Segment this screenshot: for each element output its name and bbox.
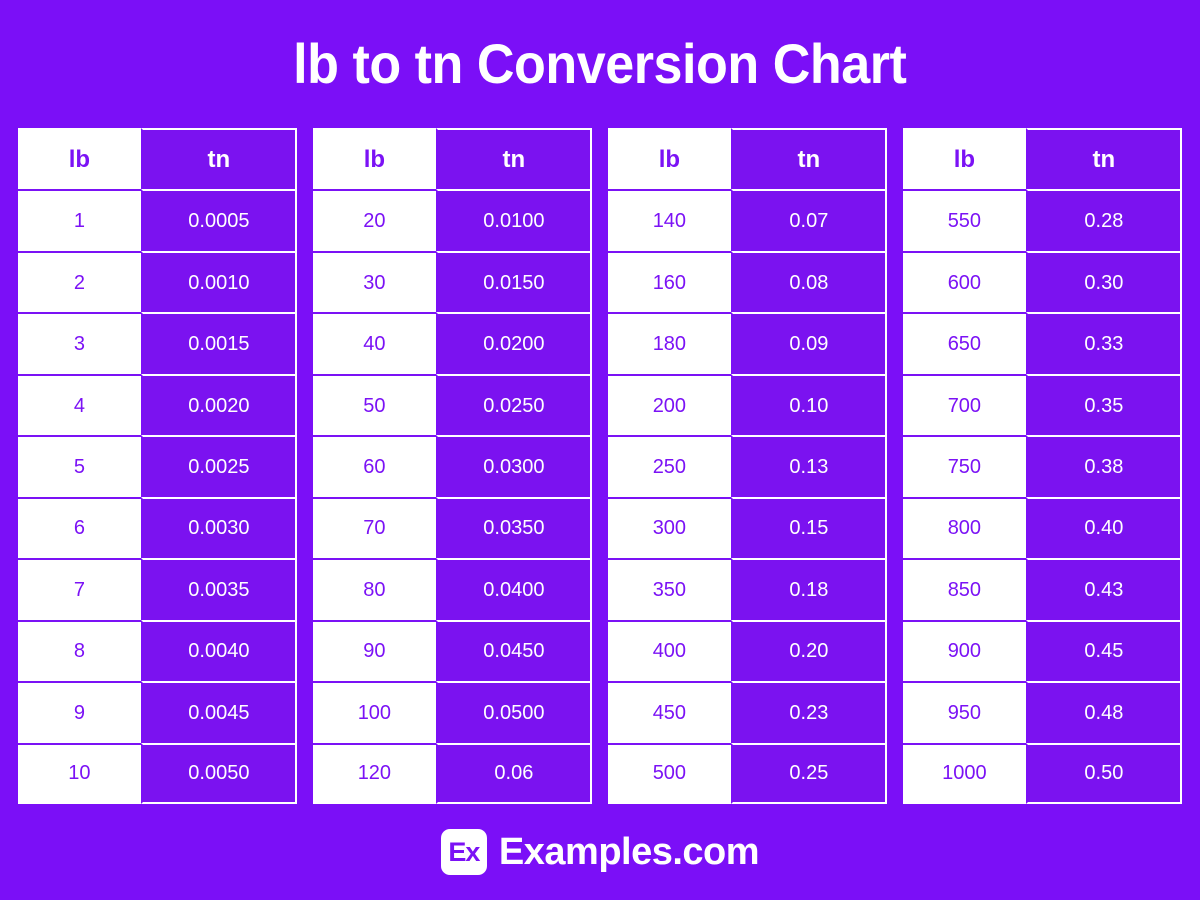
cell-tn-value: 0.15 <box>731 497 887 558</box>
table-row: 900.0450 <box>313 620 592 681</box>
cell-lb-value: 80 <box>313 558 436 619</box>
column-header-lb: lb <box>313 128 436 189</box>
cell-tn-value: 0.38 <box>1026 435 1182 496</box>
cell-tn-value: 0.23 <box>731 681 887 742</box>
cell-tn-value: 0.0300 <box>436 435 592 496</box>
conversion-table: lbtn10.000520.001030.001540.002050.00256… <box>18 128 297 804</box>
table-row: 100.0050 <box>18 743 297 804</box>
cell-lb-value: 650 <box>903 312 1026 373</box>
table-row: 10.0005 <box>18 189 297 250</box>
column-header-lb: lb <box>18 128 141 189</box>
cell-tn-value: 0.0015 <box>141 312 297 373</box>
cell-tn-value: 0.0005 <box>141 189 297 250</box>
table-row: 2000.10 <box>608 374 887 435</box>
cell-tn-value: 0.0500 <box>436 681 592 742</box>
page-title: lb to tn Conversion Chart <box>293 36 906 92</box>
cell-lb-value: 700 <box>903 374 1026 435</box>
cell-tn-value: 0.0035 <box>141 558 297 619</box>
table-row: 6500.33 <box>903 312 1182 373</box>
cell-lb-value: 180 <box>608 312 731 373</box>
table-row: 8000.40 <box>903 497 1182 558</box>
cell-lb-value: 6 <box>18 497 141 558</box>
table-row: 8500.43 <box>903 558 1182 619</box>
cell-lb-value: 90 <box>313 620 436 681</box>
cell-lb-value: 30 <box>313 251 436 312</box>
table-row: 6000.30 <box>903 251 1182 312</box>
table-row: 1000.0500 <box>313 681 592 742</box>
cell-tn-value: 0.48 <box>1026 681 1182 742</box>
table-row: 4000.20 <box>608 620 887 681</box>
cell-tn-value: 0.45 <box>1026 620 1182 681</box>
table-row: 600.0300 <box>313 435 592 496</box>
cell-tn-value: 0.07 <box>731 189 887 250</box>
table-row: 1200.06 <box>313 743 592 804</box>
table-row: 1400.07 <box>608 189 887 250</box>
logo-wordmark: Examples.com <box>499 833 759 871</box>
cell-lb-value: 900 <box>903 620 1026 681</box>
cell-tn-value: 0.09 <box>731 312 887 373</box>
table-row: 1800.09 <box>608 312 887 373</box>
cell-lb-value: 40 <box>313 312 436 373</box>
table-header-row: lbtn <box>18 128 297 189</box>
table-row: 10000.50 <box>903 743 1182 804</box>
cell-lb-value: 250 <box>608 435 731 496</box>
table-row: 60.0030 <box>18 497 297 558</box>
cell-tn-value: 0.0100 <box>436 189 592 250</box>
cell-lb-value: 450 <box>608 681 731 742</box>
examples-logo[interactable]: Ex Examples.com <box>441 829 759 875</box>
conversion-table: lbtn200.0100300.0150400.0200500.0250600.… <box>313 128 592 804</box>
cell-lb-value: 500 <box>608 743 731 804</box>
table-row: 500.0250 <box>313 374 592 435</box>
cell-lb-value: 350 <box>608 558 731 619</box>
cell-lb-value: 3 <box>18 312 141 373</box>
cell-tn-value: 0.43 <box>1026 558 1182 619</box>
cell-lb-value: 100 <box>313 681 436 742</box>
cell-lb-value: 10 <box>18 743 141 804</box>
cell-tn-value: 0.10 <box>731 374 887 435</box>
table-row: 700.0350 <box>313 497 592 558</box>
cell-lb-value: 750 <box>903 435 1026 496</box>
cell-tn-value: 0.40 <box>1026 497 1182 558</box>
table-row: 9000.45 <box>903 620 1182 681</box>
table-row: 50.0025 <box>18 435 297 496</box>
table-row: 1600.08 <box>608 251 887 312</box>
table-row: 90.0045 <box>18 681 297 742</box>
table-row: 200.0100 <box>313 189 592 250</box>
cell-tn-value: 0.06 <box>436 743 592 804</box>
cell-tn-value: 0.0030 <box>141 497 297 558</box>
cell-lb-value: 4 <box>18 374 141 435</box>
cell-tn-value: 0.0200 <box>436 312 592 373</box>
table-row: 400.0200 <box>313 312 592 373</box>
column-header-tn: tn <box>731 128 887 189</box>
cell-tn-value: 0.50 <box>1026 743 1182 804</box>
table-row: 7500.38 <box>903 435 1182 496</box>
column-header-lb: lb <box>903 128 1026 189</box>
cell-tn-value: 0.0010 <box>141 251 297 312</box>
logo-mark-icon: Ex <box>441 829 487 875</box>
cell-tn-value: 0.0450 <box>436 620 592 681</box>
cell-lb-value: 7 <box>18 558 141 619</box>
cell-lb-value: 950 <box>903 681 1026 742</box>
cell-tn-value: 0.18 <box>731 558 887 619</box>
cell-tn-value: 0.0050 <box>141 743 297 804</box>
cell-tn-value: 0.30 <box>1026 251 1182 312</box>
table-row: 20.0010 <box>18 251 297 312</box>
table-row: 3500.18 <box>608 558 887 619</box>
cell-lb-value: 20 <box>313 189 436 250</box>
cell-lb-value: 400 <box>608 620 731 681</box>
column-header-tn: tn <box>1026 128 1182 189</box>
cell-tn-value: 0.0350 <box>436 497 592 558</box>
cell-lb-value: 120 <box>313 743 436 804</box>
footer: Ex Examples.com <box>0 804 1200 900</box>
conversion-table: lbtn5500.286000.306500.337000.357500.388… <box>903 128 1182 804</box>
cell-tn-value: 0.0020 <box>141 374 297 435</box>
cell-tn-value: 0.0250 <box>436 374 592 435</box>
cell-lb-value: 140 <box>608 189 731 250</box>
cell-lb-value: 50 <box>313 374 436 435</box>
column-header-tn: tn <box>141 128 297 189</box>
table-row: 800.0400 <box>313 558 592 619</box>
table-header-row: lbtn <box>608 128 887 189</box>
tables-container: lbtn10.000520.001030.001540.002050.00256… <box>0 128 1200 804</box>
cell-lb-value: 1000 <box>903 743 1026 804</box>
table-row: 300.0150 <box>313 251 592 312</box>
cell-tn-value: 0.0150 <box>436 251 592 312</box>
table-row: 5000.25 <box>608 743 887 804</box>
table-row: 30.0015 <box>18 312 297 373</box>
cell-lb-value: 2 <box>18 251 141 312</box>
conversion-table: lbtn1400.071600.081800.092000.102500.133… <box>608 128 887 804</box>
cell-tn-value: 0.25 <box>731 743 887 804</box>
cell-lb-value: 850 <box>903 558 1026 619</box>
cell-tn-value: 0.08 <box>731 251 887 312</box>
cell-lb-value: 70 <box>313 497 436 558</box>
cell-lb-value: 300 <box>608 497 731 558</box>
title-container: lb to tn Conversion Chart <box>0 0 1200 128</box>
cell-lb-value: 60 <box>313 435 436 496</box>
column-header-tn: tn <box>436 128 592 189</box>
cell-lb-value: 1 <box>18 189 141 250</box>
conversion-chart-page: lb to tn Conversion Chart lbtn10.000520.… <box>0 0 1200 900</box>
cell-tn-value: 0.20 <box>731 620 887 681</box>
cell-lb-value: 8 <box>18 620 141 681</box>
cell-lb-value: 800 <box>903 497 1026 558</box>
table-row: 2500.13 <box>608 435 887 496</box>
cell-tn-value: 0.0040 <box>141 620 297 681</box>
table-row: 80.0040 <box>18 620 297 681</box>
table-row: 3000.15 <box>608 497 887 558</box>
column-header-lb: lb <box>608 128 731 189</box>
cell-tn-value: 0.0400 <box>436 558 592 619</box>
cell-tn-value: 0.28 <box>1026 189 1182 250</box>
table-row: 4500.23 <box>608 681 887 742</box>
cell-lb-value: 9 <box>18 681 141 742</box>
cell-lb-value: 550 <box>903 189 1026 250</box>
cell-lb-value: 160 <box>608 251 731 312</box>
cell-tn-value: 0.33 <box>1026 312 1182 373</box>
cell-tn-value: 0.0045 <box>141 681 297 742</box>
table-header-row: lbtn <box>313 128 592 189</box>
table-row: 5500.28 <box>903 189 1182 250</box>
table-row: 70.0035 <box>18 558 297 619</box>
cell-tn-value: 0.13 <box>731 435 887 496</box>
cell-lb-value: 600 <box>903 251 1026 312</box>
cell-tn-value: 0.35 <box>1026 374 1182 435</box>
table-row: 9500.48 <box>903 681 1182 742</box>
cell-tn-value: 0.0025 <box>141 435 297 496</box>
cell-lb-value: 5 <box>18 435 141 496</box>
table-row: 40.0020 <box>18 374 297 435</box>
table-header-row: lbtn <box>903 128 1182 189</box>
table-row: 7000.35 <box>903 374 1182 435</box>
cell-lb-value: 200 <box>608 374 731 435</box>
